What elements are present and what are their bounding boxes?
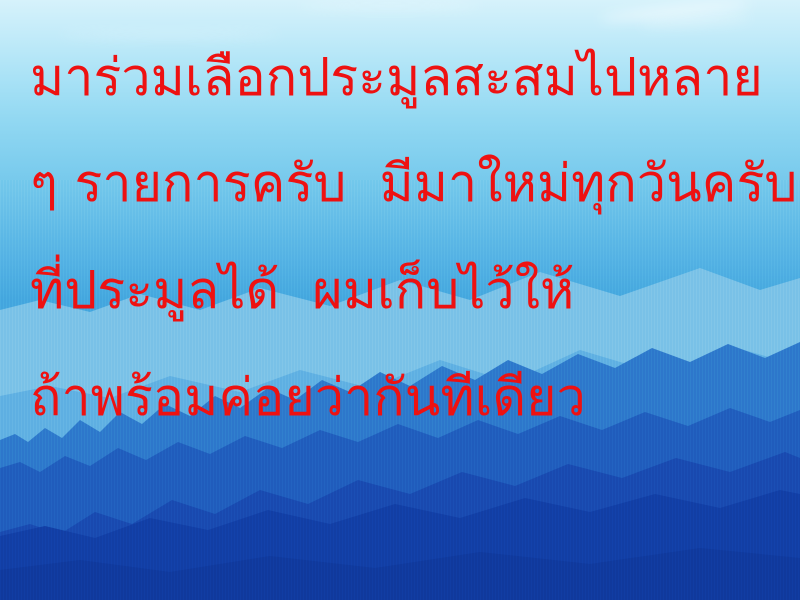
banner-image: มาร่วมเลือกประมูลสะสมไปหลาย ๆ รายการครับ… bbox=[0, 0, 800, 600]
overlay-text-line-1: มาร่วมเลือกประมูลสะสมไปหลาย bbox=[30, 52, 763, 104]
overlay-text-line-3: ที่ประมูลได้ ผมเก็บไว้ให้ bbox=[30, 265, 574, 317]
overlay-text-line-4: ถ้าพร้อมค่อยว่ากันทีเดียว bbox=[30, 372, 586, 424]
overlay-text-line-2: ๆ รายการครับ มีมาใหม่ทุกวันครับ bbox=[30, 158, 797, 210]
overlay-text-block: มาร่วมเลือกประมูลสะสมไปหลาย ๆ รายการครับ… bbox=[0, 0, 800, 600]
